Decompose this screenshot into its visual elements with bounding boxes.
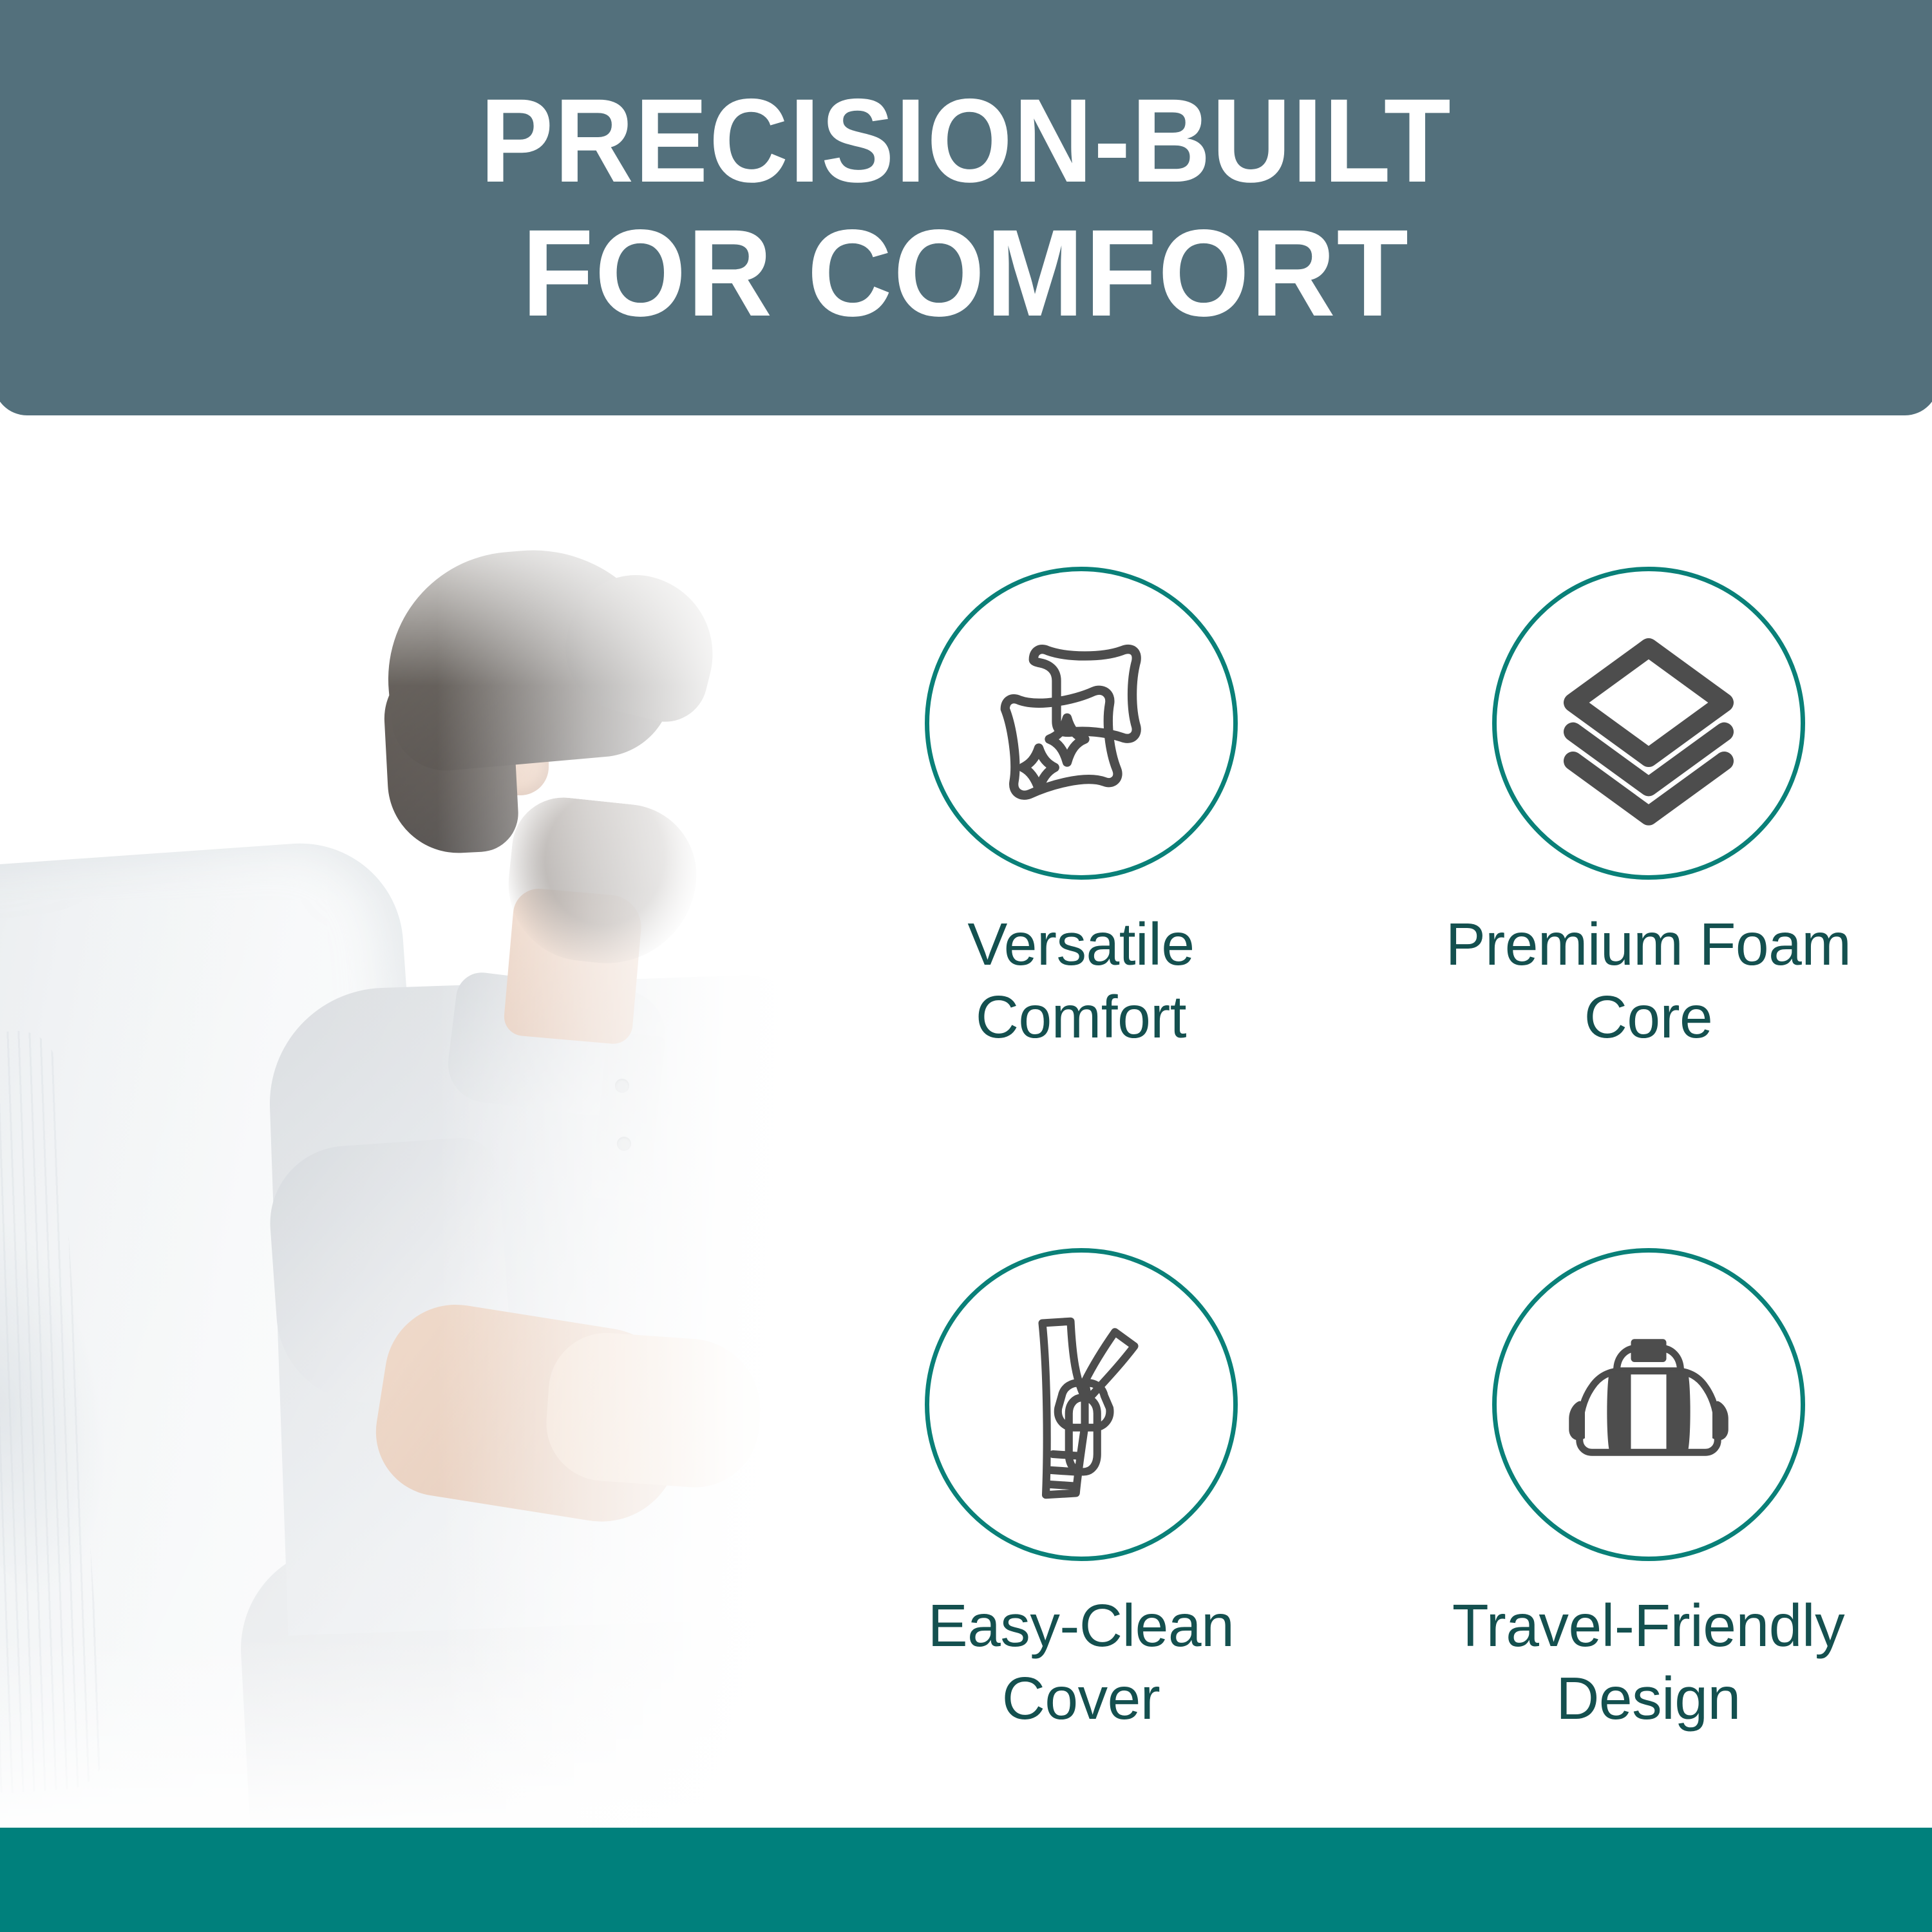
duffel-bag-icon bbox=[1542, 1298, 1755, 1511]
product-photo bbox=[0, 415, 797, 1829]
header-banner: PRECISION-BUILT FOR COMFORT bbox=[0, 0, 1932, 415]
feature-item-premium-foam-core[interactable]: Premium Foam Core bbox=[1365, 567, 1932, 1054]
icon-circle-duffel-bag bbox=[1492, 1248, 1805, 1561]
feature-label-travel-friendly-design: Travel-Friendly Design bbox=[1452, 1589, 1844, 1736]
feature-item-versatile-comfort[interactable]: Versatile Comfort bbox=[797, 567, 1365, 1054]
feature-grid: Versatile Comfort Premium Foam Core bbox=[797, 415, 1932, 1829]
zipper-icon bbox=[975, 1298, 1188, 1511]
photo-scene bbox=[0, 415, 797, 1829]
feature-label-premium-foam-core: Premium Foam Core bbox=[1446, 908, 1851, 1054]
icon-circle-layers bbox=[1492, 567, 1805, 880]
photo-right-fade bbox=[437, 415, 797, 1829]
infographic-canvas: PRECISION-BUILT FOR COMFORT bbox=[0, 0, 1932, 1932]
footer-bar bbox=[0, 1828, 1932, 1932]
page-title-line-1: PRECISION-BUILT bbox=[480, 82, 1452, 201]
feature-item-travel-friendly-design[interactable]: Travel-Friendly Design bbox=[1365, 1248, 1932, 1736]
layers-icon bbox=[1546, 620, 1752, 826]
icon-circle-zipper bbox=[925, 1248, 1238, 1561]
feature-item-easy-clean-cover[interactable]: Easy-Clean Cover bbox=[797, 1248, 1365, 1736]
icon-circle-pillows bbox=[925, 567, 1238, 880]
pillows-icon bbox=[975, 617, 1188, 829]
feature-label-easy-clean-cover: Easy-Clean Cover bbox=[928, 1589, 1235, 1736]
feature-label-versatile-comfort: Versatile Comfort bbox=[967, 908, 1194, 1054]
page-title-line-2: FOR COMFORT bbox=[522, 211, 1410, 335]
